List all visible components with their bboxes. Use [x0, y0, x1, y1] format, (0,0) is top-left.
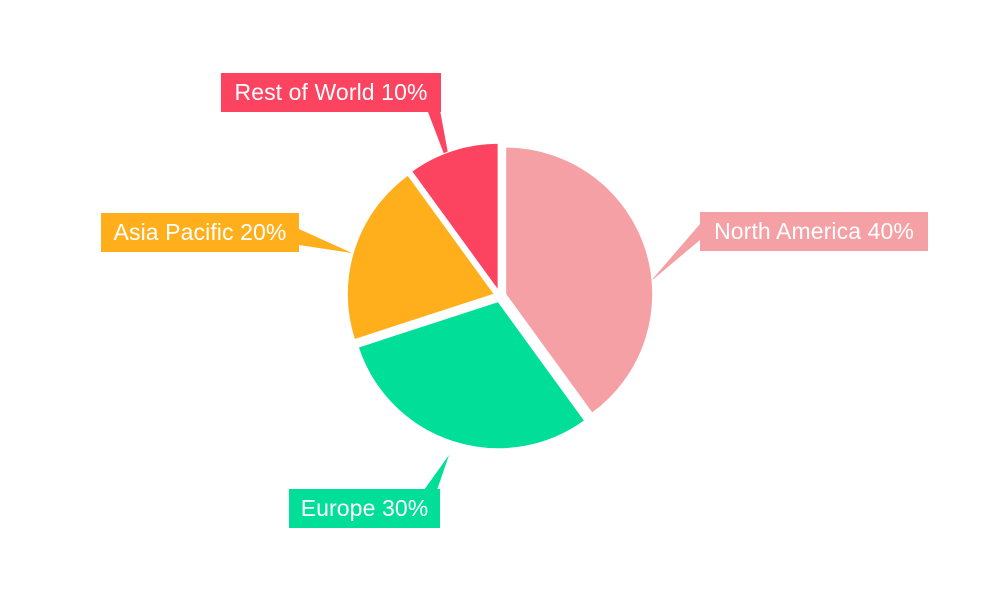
pie-chart-figure	[0, 0, 1000, 600]
leader-line-asia-pacific	[299, 229, 352, 253]
pie-label-europe[interactable]: Europe 30%	[289, 489, 440, 528]
pie-label-rest-of-world[interactable]: Rest of World 10%	[221, 73, 441, 112]
pie-label-north-america[interactable]: North America 40%	[700, 212, 928, 251]
leader-line-europe	[424, 455, 449, 490]
chart-canvas: Rest of World 10% Asia Pacific 20% North…	[0, 0, 1000, 600]
pie-label-asia-pacific[interactable]: Asia Pacific 20%	[101, 213, 299, 252]
leader-line-north-america	[650, 224, 700, 282]
